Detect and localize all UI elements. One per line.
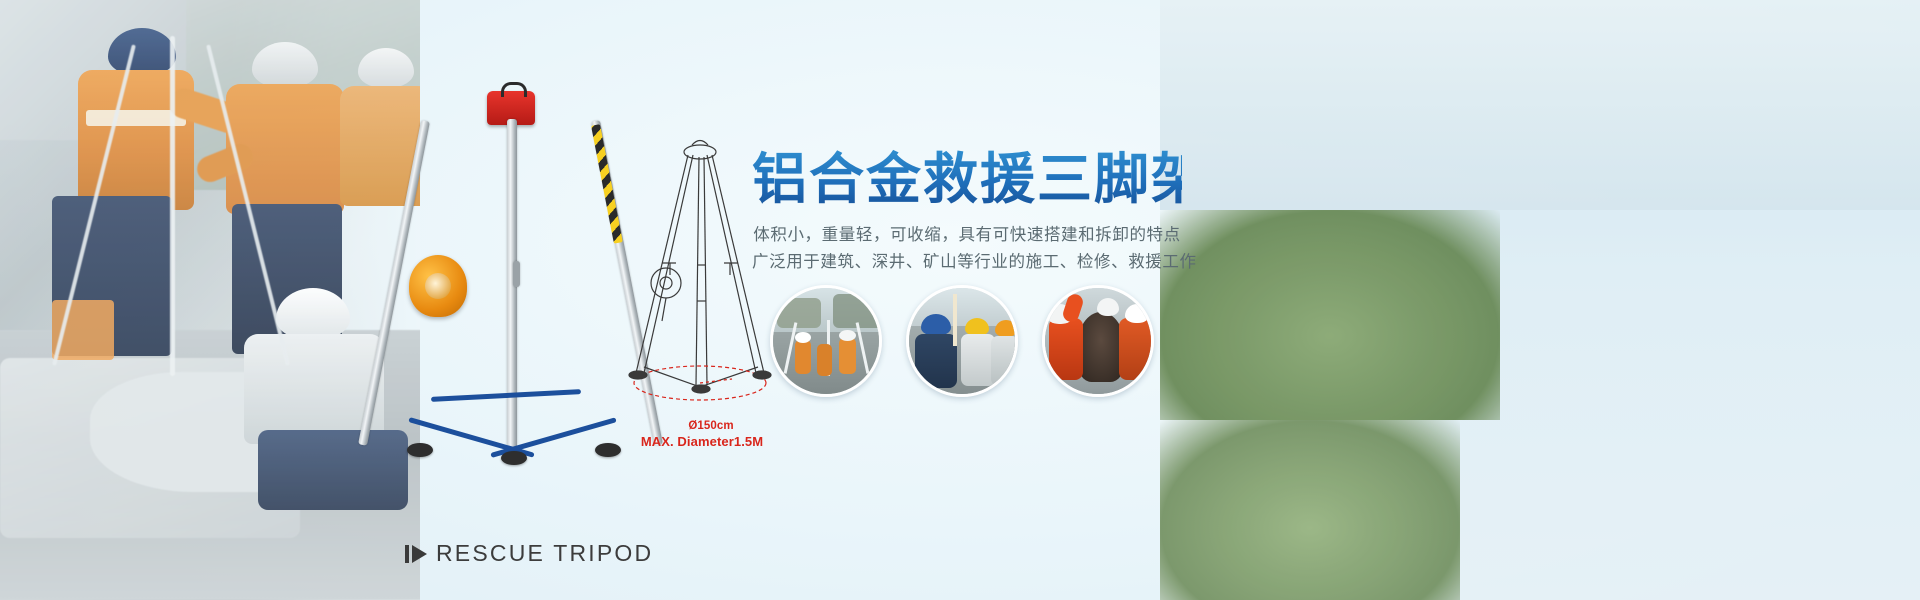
left-photo-collage [0,0,420,600]
diameter-max-label: MAX. Diameter1.5M [612,434,792,450]
subtitle-line-2: 广泛用于建筑、深井、矿山等行业的施工、检修、救援工作 [752,249,1182,276]
copy-block: 铝合金救援三脚架 体积小，重量轻，可收缩，具有可快速搭建和拆卸的特点 广泛用于建… [752,148,1182,276]
tripod-winch [409,255,467,317]
subtitle-line-1: 体积小，重量轻，可收缩，具有可快速搭建和拆卸的特点 [752,222,1182,249]
product-tripod-photo [395,85,625,465]
diameter-metric-label: Ø150cm [630,418,792,434]
product-banner: RESCUE TRIPOD [0,0,1920,600]
right-photo-collage [1160,0,1920,600]
page-title: 铝合金救援三脚架 [752,148,1182,210]
play-bar-icon [405,545,409,563]
wordmark-label: RESCUE TRIPOD [436,540,653,567]
blueprint-head [684,145,716,159]
play-triangle-icon [412,545,427,563]
diameter-annotation: Ø150cm MAX. Diameter1.5M [612,418,792,450]
blueprint-leg-center [696,157,699,385]
thumb-rescue-scene-3[interactable] [1042,285,1154,397]
rescue-tripod-wordmark: RESCUE TRIPOD [405,540,653,567]
blueprint-leg-left [636,155,688,373]
thumb-rescue-scene-2[interactable] [906,285,1018,397]
thumb-rescue-scene-1[interactable] [770,285,882,397]
